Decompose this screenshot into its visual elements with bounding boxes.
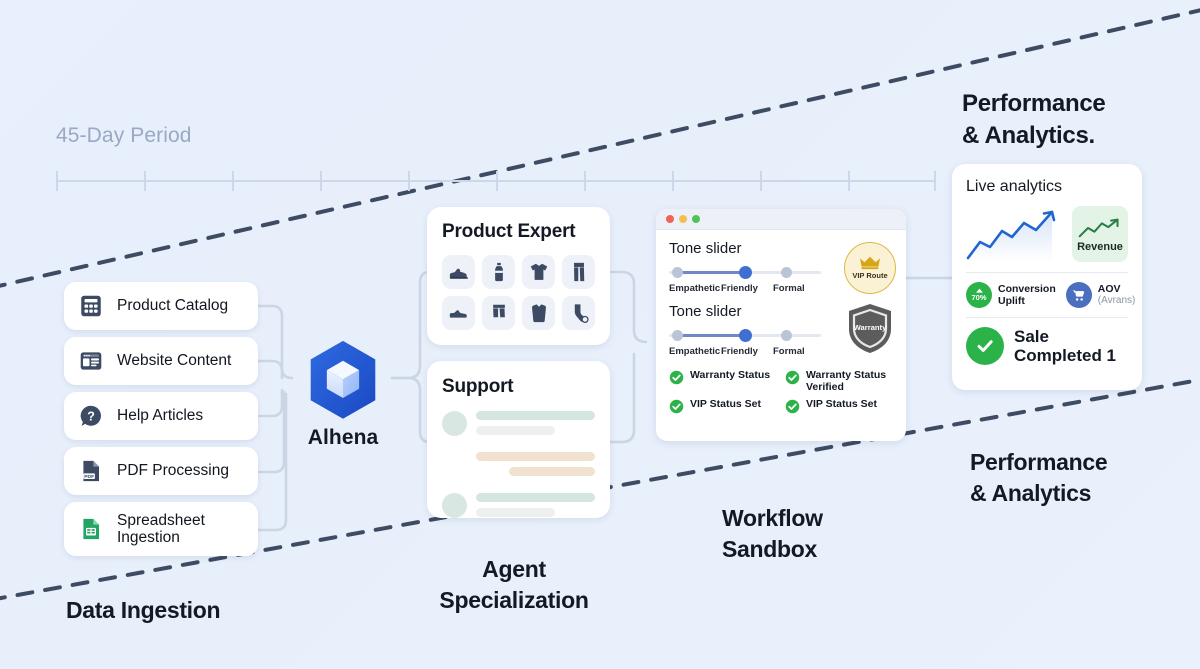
conversion-label: Conversion Uplift [998,283,1056,307]
live-analytics-title: Live analytics [966,178,1128,196]
vip-route-label: VIP Route [852,271,887,280]
sale-line2: Completed 1 [1014,346,1116,365]
diagram-stage: 45-Day Period [0,0,1200,669]
main-trend-chart [966,206,1062,262]
sale-line1: Sale [1014,327,1116,346]
divider [966,272,1128,273]
product-catalog-icon [78,293,104,319]
aov-line2: (Avrans) [1098,295,1136,307]
product-cell[interactable] [482,296,515,330]
slider-label-empathetic: Empathetic [669,283,721,294]
ingest-item-label: Product Catalog [117,297,228,314]
tone-slider-section-1: Tone slider Empathetic Friendly Formal [669,240,893,294]
avatar [442,411,467,436]
period-label: 45-Day Period [56,124,192,148]
slider-label-empathetic: Empathetic [669,346,721,357]
tshirt-icon [528,261,550,283]
pants-icon [568,261,590,283]
support-reply-row [442,452,595,482]
support-title: Support [442,376,595,398]
ingest-item-spreadsheet-ingestion[interactable]: Spreadsheet Ingestion [64,502,258,556]
timeline-tick [320,171,322,191]
analytics-charts: Revenue [966,204,1128,262]
slider-knob-friendly[interactable] [739,266,752,279]
product-cell[interactable] [442,255,475,289]
timeline-tick [848,171,850,191]
spreadsheet-icon [78,516,104,542]
slider-knob-empathetic[interactable] [672,267,683,278]
ingest-item-product-catalog[interactable]: Product Catalog [64,282,258,330]
slider-fill [677,271,747,274]
status-checks: Warranty Status Warranty Status Verified… [669,366,893,414]
perf-top-line1: Performance [962,88,1105,120]
bottle-icon [488,261,510,283]
timeline-tick [672,171,674,191]
agent-line2: Specialization [426,585,602,616]
placeholder-bar [476,452,595,461]
status-check-label: VIP Status Set [690,398,761,410]
alhena-brand: Alhena [296,338,390,450]
timeline-tick [232,171,234,191]
dress-shoe-icon [448,302,470,324]
status-check-item[interactable]: Warranty Status [669,369,777,393]
perf-bot-line2: & Analytics [970,478,1107,509]
aov-label: AOV (Avrans) [1098,283,1136,307]
status-check-item[interactable]: Warranty Status Verified [785,369,893,393]
tone-slider-section-2: Tone slider Empathetic Friendly Formal [669,303,893,357]
check-icon [669,370,684,385]
product-cell[interactable] [562,296,595,330]
conversion-line1: Conversion [998,283,1056,295]
timeline-tick [144,171,146,191]
slider-knob-formal[interactable] [781,267,792,278]
vip-route-badge[interactable]: VIP Route [844,242,896,294]
timeline-tick [496,171,498,191]
cart-icon [1071,288,1086,302]
timeline-tick [56,171,58,191]
product-expert-card[interactable]: Product Expert [427,207,610,345]
slider-knob-friendly[interactable] [739,329,752,342]
trend-up-icon [1075,216,1125,240]
product-expert-title: Product Expert [442,221,595,243]
conversion-line2: Uplift [998,295,1056,307]
svg-text:?: ? [87,409,95,423]
status-check-item[interactable]: VIP Status Set [669,398,777,414]
slider-knob-formal[interactable] [781,330,792,341]
help-articles-icon: ? [78,403,104,429]
aov-line1: AOV [1098,283,1136,295]
performance-analytics-top-heading: Performance & Analytics. [962,88,1105,151]
placeholder-bar [476,493,595,502]
placeholder-bar [476,426,555,435]
product-cell[interactable] [482,255,515,289]
data-ingestion-heading: Data Ingestion [66,597,220,624]
status-check-label: Warranty Status [690,369,770,381]
workflow-body: Tone slider Empathetic Friendly Formal [656,230,906,414]
workflow-line1: Workflow [722,503,823,534]
support-placeholder-lines [476,493,595,523]
slider-label-friendly: Friendly [721,283,773,294]
ingest-item-pdf-processing[interactable]: PDF PDF Processing [64,447,258,495]
workflow-sandbox-heading: Workflow Sandbox [722,503,823,564]
placeholder-bar [476,508,555,517]
minimize-dot-icon[interactable] [679,215,687,223]
status-check-label: VIP Status Set [806,398,877,410]
slider-fill [677,334,747,337]
website-content-icon [78,348,104,374]
check-icon [669,399,684,414]
performance-analytics-bottom-heading: Performance & Analytics [970,447,1107,508]
product-cell[interactable] [562,255,595,289]
metrics-row: 70% Conversion Uplift AOV [966,282,1128,308]
ingest-item-website-content[interactable]: Website Content [64,337,258,385]
divider [966,317,1128,318]
workflow-sandbox-window[interactable]: Tone slider Empathetic Friendly Formal [656,209,906,441]
agent-line1: Agent [426,554,602,585]
warranty-badge-label: Warranty [854,323,887,332]
slider-label-formal: Formal [773,346,805,357]
maximize-dot-icon[interactable] [692,215,700,223]
slider-label-friendly: Friendly [721,346,773,357]
tone-slider-labels: Empathetic Friendly Formal [669,346,834,357]
live-analytics-card[interactable]: Live analytics Revenue [952,164,1142,390]
support-placeholder-lines [476,411,595,441]
avatar [442,493,467,518]
placeholder-bar [476,411,595,420]
ingest-item-label: Help Articles [117,407,203,424]
placeholder-bar [509,467,595,476]
product-cell[interactable] [522,296,555,330]
data-ingestion-list: Product Catalog Website Content ? Help A… [64,282,258,563]
timeline-tick [934,171,936,191]
conversion-badge: 70% [966,282,992,308]
slider-knob-empathetic[interactable] [672,330,683,341]
spreadsheet-label-text: Spreadsheet Ingestion [117,512,205,546]
tone-slider[interactable] [669,267,821,278]
agent-specialization-heading: Agent Specialization [426,554,602,615]
check-icon [785,399,800,414]
warranty-badge[interactable]: Warranty [843,301,897,355]
timeline-tick [584,171,586,191]
jacket-icon [528,302,550,324]
perf-top-line2: & Analytics. [962,120,1105,152]
sneaker-icon [448,261,470,283]
product-cell[interactable] [522,255,555,289]
shorts-icon [488,302,510,324]
product-icon-grid [442,255,595,330]
tone-slider[interactable] [669,330,821,341]
ingest-item-label: Spreadsheet Ingestion [117,512,244,547]
sale-label: Sale Completed 1 [1014,327,1116,366]
slider-label-formal: Formal [773,283,805,294]
workflow-line2: Sandbox [722,534,823,565]
conversion-pct: 70% [971,294,986,302]
ingest-item-label: PDF Processing [117,462,229,479]
aov-badge [1066,282,1092,308]
timeline-tick [408,171,410,191]
sock-icon [568,302,590,324]
support-message-row [442,493,595,523]
perf-bot-line1: Performance [970,447,1107,478]
tone-slider-labels: Empathetic Friendly Formal [669,283,834,294]
check-icon [785,370,800,385]
alhena-name: Alhena [296,426,390,450]
status-check-label: Warranty Status Verified [806,369,893,393]
support-message-row [442,411,595,441]
alhena-cube-logo [305,338,381,422]
ingest-item-help-articles[interactable]: ? Help Articles [64,392,258,440]
pdf-icon: PDF [78,458,104,484]
sale-completed-row[interactable]: Sale Completed 1 [966,327,1128,366]
timeline-axis [56,170,936,192]
svg-text:PDF: PDF [84,474,94,480]
metric-conversion-uplift[interactable]: 70% Conversion Uplift [966,282,1056,308]
window-titlebar [656,209,906,230]
ingest-item-label: Website Content [117,352,231,369]
revenue-label: Revenue [1077,241,1123,253]
status-check-item[interactable]: VIP Status Set [785,398,893,414]
crown-icon [858,256,882,270]
metric-aov[interactable]: AOV (Avrans) [1066,282,1136,308]
timeline-tick [760,171,762,191]
support-card[interactable]: Support [427,361,610,518]
revenue-chip[interactable]: Revenue [1072,206,1128,262]
sale-check-icon [966,327,1004,365]
close-dot-icon[interactable] [666,215,674,223]
product-cell[interactable] [442,296,475,330]
